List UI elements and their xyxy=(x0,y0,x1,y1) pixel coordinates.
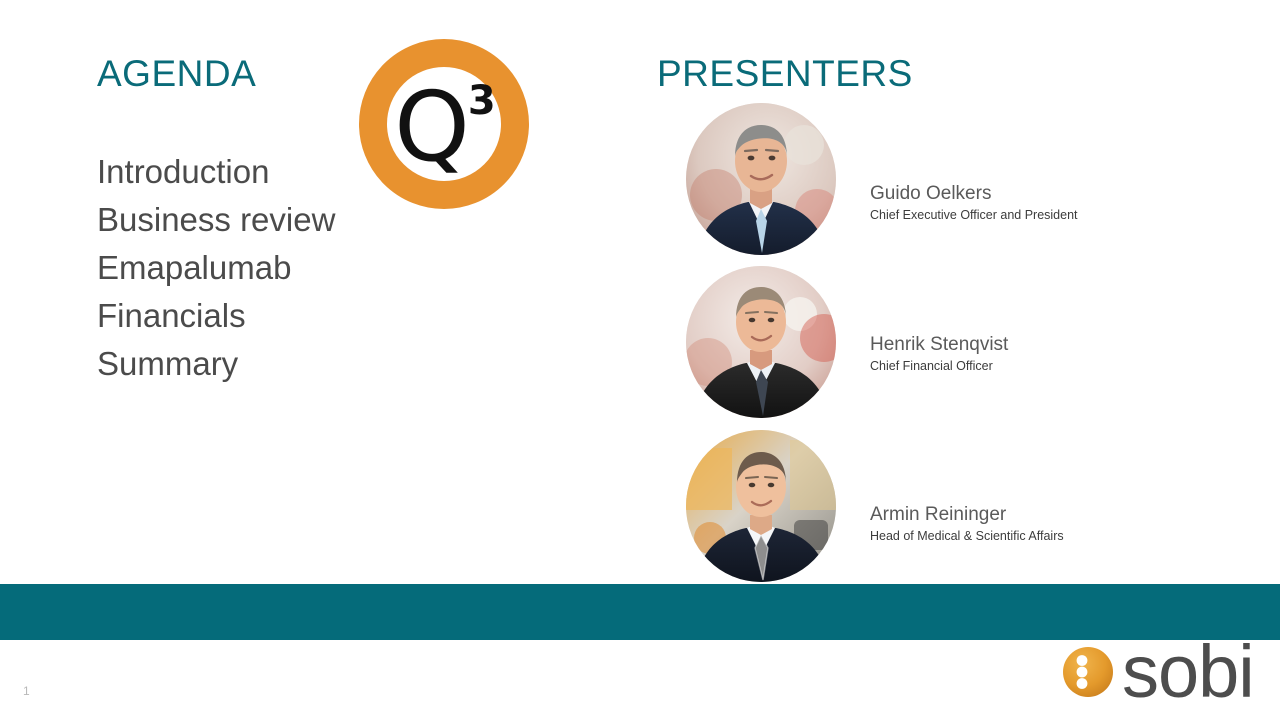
agenda-item-summary: Summary xyxy=(97,340,335,388)
agenda-item-introduction: Introduction xyxy=(97,148,335,196)
quarter-logo-text: Q3 xyxy=(359,39,529,209)
avatar xyxy=(686,103,836,255)
sobi-wordmark: sobi xyxy=(1122,646,1254,698)
page-number: 1 xyxy=(23,684,30,698)
presenter-info: Guido Oelkers Chief Executive Officer an… xyxy=(870,179,1078,223)
presenter-name: Guido Oelkers xyxy=(870,183,1078,205)
quarter-three-logo: Q3 xyxy=(359,39,529,209)
agenda-item-emapalumab: Emapalumab xyxy=(97,244,335,292)
presenter-name: Henrik Stenqvist xyxy=(870,334,1008,356)
presenter-title: Chief Financial Officer xyxy=(870,358,1008,374)
agenda-list: Introduction Business review Emapalumab … xyxy=(97,148,335,388)
presenter-title: Chief Executive Officer and President xyxy=(870,207,1078,223)
agenda-item-financials: Financials xyxy=(97,292,335,340)
avatar xyxy=(686,266,836,418)
presenter-name: Armin Reininger xyxy=(870,504,1064,526)
sobi-logo: sobi xyxy=(1062,646,1254,698)
presenter-row: Armin Reininger Head of Medical & Scient… xyxy=(686,430,1064,582)
presenter-title: Head of Medical & Scientific Affairs xyxy=(870,528,1064,544)
quarter-logo-letter: Q xyxy=(394,79,468,175)
presenter-info: Armin Reininger Head of Medical & Scient… xyxy=(870,500,1064,544)
presenter-row: Henrik Stenqvist Chief Financial Officer xyxy=(686,266,1008,418)
presentation-slide: AGENDA Introduction Business review Emap… xyxy=(0,0,1280,720)
presenter-row: Guido Oelkers Chief Executive Officer an… xyxy=(686,103,1078,255)
presenter-info: Henrik Stenqvist Chief Financial Officer xyxy=(870,330,1008,374)
sobi-mark-icon xyxy=(1062,646,1114,698)
agenda-heading: AGENDA xyxy=(97,55,256,92)
agenda-item-business-review: Business review xyxy=(97,196,335,244)
presenters-heading: PRESENTERS xyxy=(657,55,913,92)
quarter-logo-superscript: 3 xyxy=(468,81,494,121)
footer-accent-bar xyxy=(0,584,1280,640)
avatar xyxy=(686,430,836,582)
